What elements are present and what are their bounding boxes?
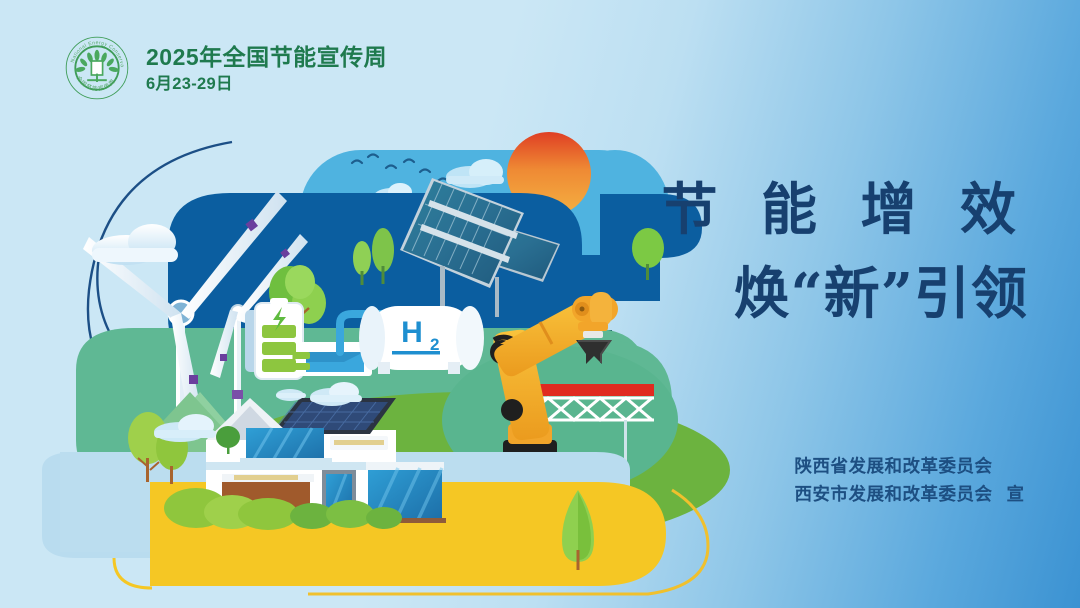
attribution-suffix: 宣 [1007, 481, 1025, 508]
header: National Energy Conservation Week 全国节能宣传… [62, 33, 387, 103]
hydrogen-tank: H 2 [359, 306, 484, 374]
poster-root: H 2 [0, 0, 1080, 608]
headline-line-2: 焕“新”引领 [662, 252, 1029, 336]
attribution-org-1: 陕西省发展和改革委员会 [795, 452, 993, 480]
national-energy-conservation-week-emblem-icon: National Energy Conservation Week 全国节能宣传… [62, 33, 132, 103]
header-text: 2025年全国节能宣传周 6月23-29日 [146, 43, 387, 92]
svg-text:全国节能宣传周: 全国节能宣传周 [75, 74, 117, 92]
attribution-org-2: 西安市发展和改革委员会 [795, 480, 993, 508]
header-date: 6月23-29日 [146, 75, 387, 93]
header-title: 2025年全国节能宣传周 [146, 45, 387, 70]
attribution-orgs: 陕西省发展和改革委员会 西安市发展和改革委员会 [795, 452, 993, 508]
logo: National Energy Conservation Week 全国节能宣传… [62, 33, 132, 103]
headline: 节 能 增 效 焕“新”引领 [662, 168, 1029, 336]
hydrogen-tank-label: H [401, 316, 423, 349]
attribution: 陕西省发展和改革委员会 西安市发展和改革委员会 宣 [795, 452, 1025, 508]
headline-line-1: 节 能 增 效 [662, 168, 1029, 252]
